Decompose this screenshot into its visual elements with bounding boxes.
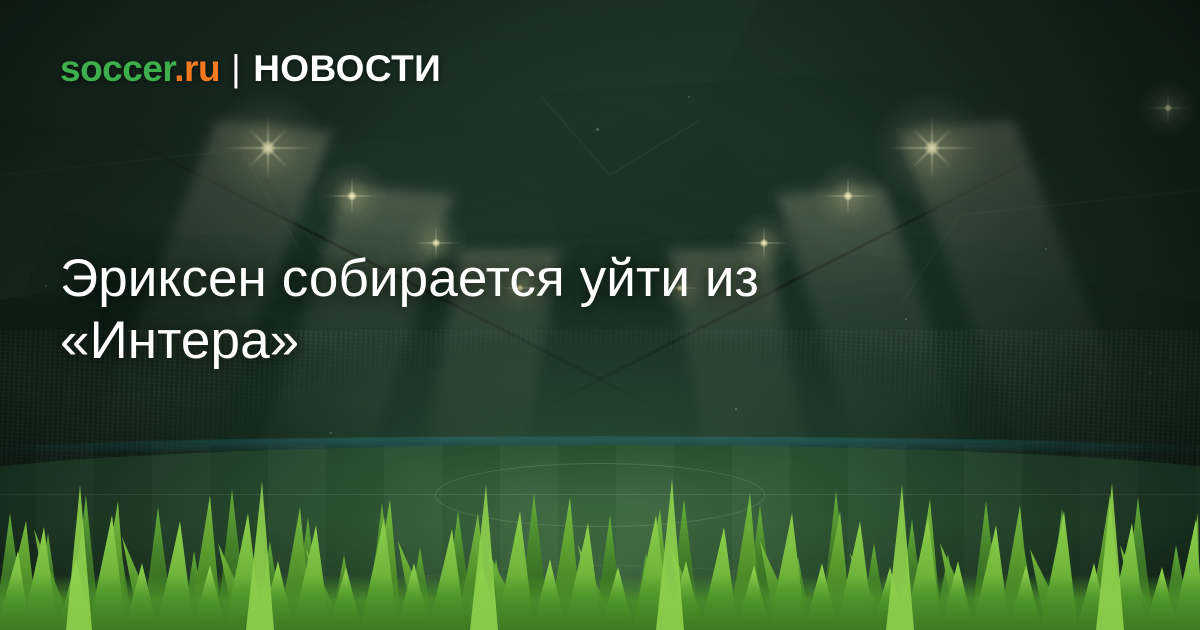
- logo-separator: |: [231, 48, 240, 89]
- logo-text-soccer: soccer: [60, 48, 174, 89]
- foreground-grass: [0, 455, 1200, 630]
- site-logo-header[interactable]: soccer.ru|НОВОСТИ: [60, 50, 441, 87]
- article-headline: Эриксен собирается уйти из «Интера»: [60, 248, 940, 372]
- logo-text-ru: .ru: [174, 48, 220, 89]
- news-share-card: soccer.ru|НОВОСТИ Эриксен собирается уйт…: [0, 0, 1200, 630]
- section-label-news: НОВОСТИ: [253, 48, 441, 89]
